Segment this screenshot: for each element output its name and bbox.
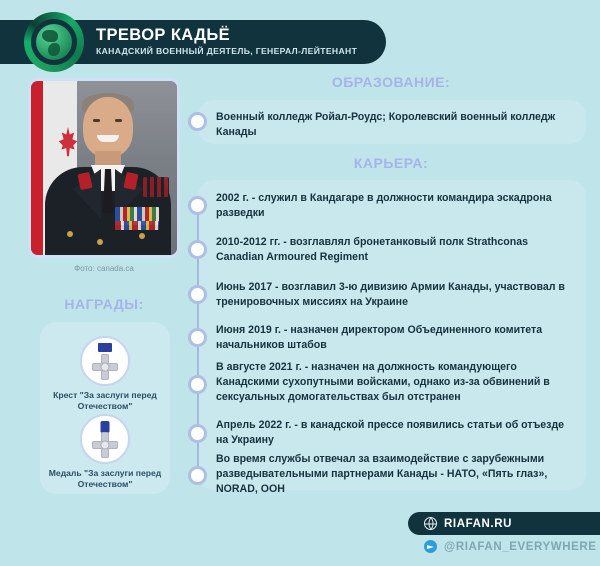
portrait-eye-left [93,119,100,122]
site-url-label: RIAFAN.RU [444,518,512,530]
page-title: ТРЕВОР КАДЬЁ [96,27,357,45]
award-cross-medal-icon [80,336,130,386]
portrait-photo [28,78,180,258]
education-bullet-dot [188,112,207,131]
cross-center-2 [101,441,110,450]
career-dot-1 [188,240,207,259]
career-item-3: Июня 2019 г. - назначен директором Объед… [216,323,574,353]
education-item-0: Военный колледж Ройал-Роудс; Королевский… [216,110,574,140]
telegram-handle-label: @RIAFAN_EVERYWHERE [444,541,597,553]
header-text-block: ТРЕВОР КАДЬЁ КАНАДСКИЙ ВОЕННЫЙ ДЕЯТЕЛЬ, … [96,27,357,56]
page-subtitle: КАНАДСКИЙ ВОЕННЫЙ ДЕЯТЕЛЬ, ГЕНЕРАЛ-ЛЕЙТЕ… [96,47,357,56]
medal-ribbon-1 [98,343,112,352]
career-section-title: КАРЬЕРА: [196,155,586,171]
award-label-1: Крест "За заслуги перед Отечеством" [43,390,167,412]
portrait-eye-right [115,119,122,122]
uniform-button-2 [97,239,103,245]
career-dot-6 [188,466,207,485]
career-item-6: Во время службы отвечал за взаимодействи… [216,452,574,497]
telegram-icon [424,540,437,553]
award-label-2: Медаль "За заслуги перед Отечеством" [43,468,167,490]
rank-insignia [143,177,169,197]
career-item-2: Июнь 2017 - возглавил 3-ю дивизию Армии … [216,280,574,310]
portrait-image [31,81,177,255]
cross-center-1 [101,363,110,372]
career-dot-4 [188,375,207,394]
globe-icon [424,517,437,530]
portrait-smile [97,135,119,142]
uniform-button-3 [139,233,145,239]
maple-leaf-icon [57,127,79,161]
telegram-link[interactable]: @RIAFAN_EVERYWHERE [408,540,597,553]
career-dot-5 [188,424,207,443]
site-link[interactable]: RIAFAN.RU [408,512,600,535]
career-item-5: Апрель 2022 г. - в канадской прессе появ… [216,418,574,448]
awards-section-title: НАГРАДЫ: [28,296,180,312]
service-ribbons-row-2 [115,221,159,230]
photo-credit: Фото: canada.ca [28,264,180,273]
career-dot-3 [188,328,207,347]
brand-globe-icon [24,12,84,72]
career-item-0: 2002 г. - служил в Кандагаре в должности… [216,191,574,221]
education-section-title: ОБРАЗОВАНИЕ: [196,74,586,90]
career-dot-2 [188,285,207,304]
career-item-4: В августе 2021 г. - назначен на должност… [216,360,574,405]
cross-glyph-1 [92,354,118,380]
logo-globe [36,24,72,60]
career-item-1: 2010-2012 гг. - возглавлял бронетанковый… [216,235,574,265]
portrait-face [83,97,133,157]
career-dot-0 [188,196,207,215]
cross-glyph-2 [92,432,118,458]
award-medal-icon [80,414,130,464]
uniform-button-1 [67,231,73,237]
awards-panel: Крест "За заслуги перед Отечеством" Меда… [40,322,170,494]
